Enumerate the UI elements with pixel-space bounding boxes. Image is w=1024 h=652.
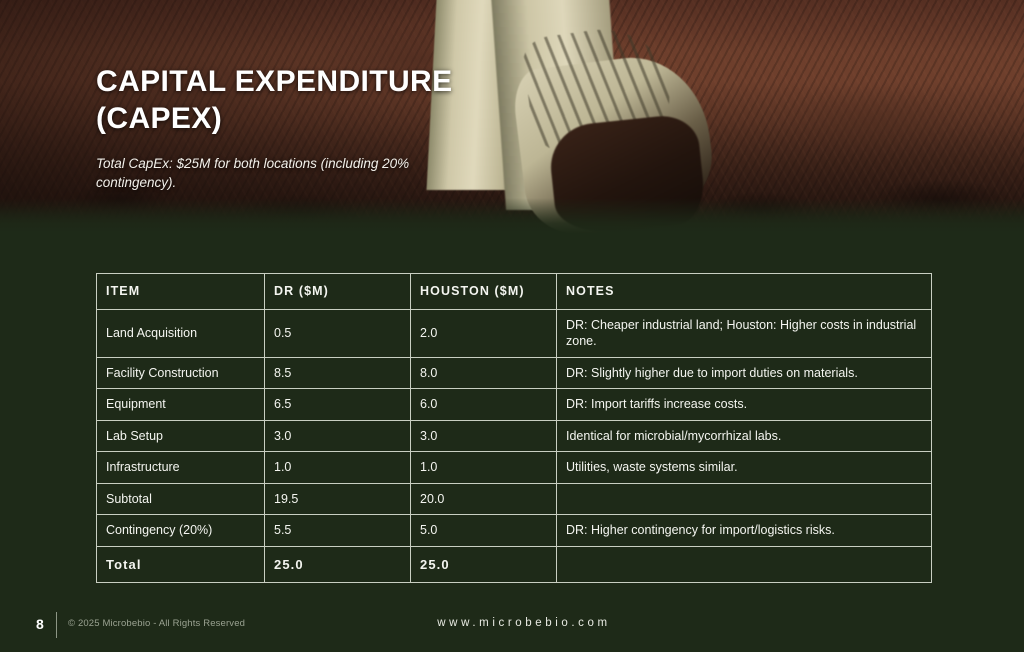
- cell-item: Equipment: [97, 389, 265, 421]
- capex-table-container: ITEM DR ($M) HOUSTON ($M) NOTES Land Acq…: [96, 273, 932, 583]
- cell-houston: 5.0: [411, 515, 557, 547]
- column-header-notes: NOTES: [557, 274, 932, 310]
- cell-houston: 20.0: [411, 483, 557, 515]
- hero-bottom-fade: [0, 198, 1024, 234]
- cell-dr: 5.5: [265, 515, 411, 547]
- cell-dr: 3.0: [265, 420, 411, 452]
- table-header: ITEM DR ($M) HOUSTON ($M) NOTES: [97, 274, 932, 310]
- table-row: Lab Setup 3.0 3.0 Identical for microbia…: [97, 420, 932, 452]
- table-total-row: Total 25.0 25.0: [97, 546, 932, 582]
- cell-dr: 0.5: [265, 309, 411, 357]
- table-row: Land Acquisition 0.5 2.0 DR: Cheaper ind…: [97, 309, 932, 357]
- slide: CAPITAL EXPENDITURE (CAPEX) Total CapEx:…: [0, 0, 1024, 652]
- cell-houston: 1.0: [411, 452, 557, 484]
- cell-item: Subtotal: [97, 483, 265, 515]
- cell-dr: 1.0: [265, 452, 411, 484]
- cell-item: Contingency (20%): [97, 515, 265, 547]
- cell-notes: [557, 483, 932, 515]
- cell-dr: 6.5: [265, 389, 411, 421]
- cell-houston: 2.0: [411, 309, 557, 357]
- cell-item: Facility Construction: [97, 357, 265, 389]
- cell-notes: DR: Cheaper industrial land; Houston: Hi…: [557, 309, 932, 357]
- table-row: Infrastructure 1.0 1.0 Utilities, waste …: [97, 452, 932, 484]
- cell-houston: 3.0: [411, 420, 557, 452]
- column-header-item: ITEM: [97, 274, 265, 310]
- cell-item: Infrastructure: [97, 452, 265, 484]
- cell-notes: DR: Higher contingency for import/logist…: [557, 515, 932, 547]
- footer: 8 © 2025 Microbebio - All Rights Reserve…: [0, 604, 1024, 652]
- cell-item: Total: [97, 546, 265, 582]
- column-header-houston: HOUSTON ($M): [411, 274, 557, 310]
- cell-notes: DR: Import tariffs increase costs.: [557, 389, 932, 421]
- table-row: Facility Construction 8.5 8.0 DR: Slight…: [97, 357, 932, 389]
- title-block: CAPITAL EXPENDITURE (CAPEX) Total CapEx:…: [96, 64, 516, 192]
- cell-dr: 25.0: [265, 546, 411, 582]
- cell-houston: 8.0: [411, 357, 557, 389]
- cell-houston: 6.0: [411, 389, 557, 421]
- cell-item: Lab Setup: [97, 420, 265, 452]
- cell-dr: 8.5: [265, 357, 411, 389]
- table-header-row: ITEM DR ($M) HOUSTON ($M) NOTES: [97, 274, 932, 310]
- cell-item: Land Acquisition: [97, 309, 265, 357]
- page-title: CAPITAL EXPENDITURE (CAPEX): [96, 64, 516, 137]
- page-subtitle: Total CapEx: $25M for both locations (in…: [96, 155, 436, 192]
- table-body: Land Acquisition 0.5 2.0 DR: Cheaper ind…: [97, 309, 932, 582]
- website-url: www.microbebio.com: [0, 617, 1024, 629]
- cell-notes: DR: Slightly higher due to import duties…: [557, 357, 932, 389]
- cell-notes: Identical for microbial/mycorrhizal labs…: [557, 420, 932, 452]
- cell-notes: [557, 546, 932, 582]
- cell-houston: 25.0: [411, 546, 557, 582]
- capex-table: ITEM DR ($M) HOUSTON ($M) NOTES Land Acq…: [96, 273, 932, 583]
- cell-dr: 19.5: [265, 483, 411, 515]
- table-row: Equipment 6.5 6.0 DR: Import tariffs inc…: [97, 389, 932, 421]
- table-row: Contingency (20%) 5.5 5.0 DR: Higher con…: [97, 515, 932, 547]
- cell-notes: Utilities, waste systems similar.: [557, 452, 932, 484]
- table-row: Subtotal 19.5 20.0: [97, 483, 932, 515]
- column-header-dr: DR ($M): [265, 274, 411, 310]
